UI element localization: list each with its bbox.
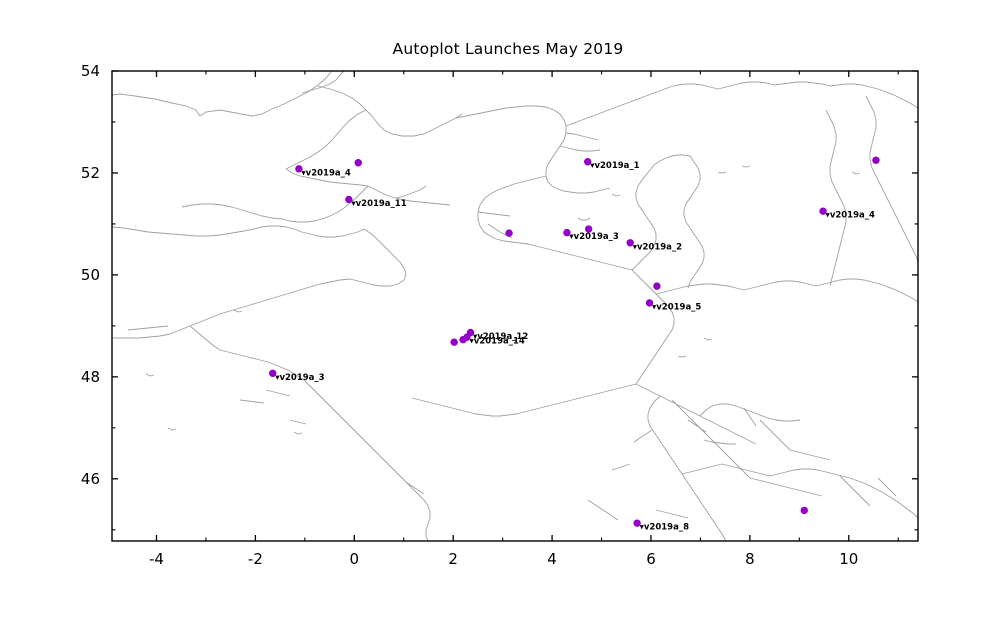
data-point[interactable]: ▾v2019a_1 — [584, 158, 640, 171]
data-point[interactable] — [505, 229, 512, 236]
data-point-label: ▾v2019a_1 — [590, 161, 639, 171]
x-tick-label: 6 — [646, 550, 656, 568]
data-point-marker[interactable] — [872, 157, 879, 164]
axis-frame — [112, 71, 918, 541]
data-point[interactable]: ▾v2019a_4 — [295, 165, 351, 178]
x-tick-label: 4 — [547, 550, 557, 568]
data-point[interactable] — [355, 159, 362, 166]
data-point-label: ▾v2019a_2 — [633, 242, 682, 252]
y-tick-label: 54 — [81, 62, 100, 80]
x-tick-label: 2 — [448, 550, 458, 568]
data-point-marker[interactable] — [653, 282, 660, 289]
data-point[interactable] — [801, 507, 808, 514]
data-point-marker[interactable] — [505, 229, 512, 236]
data-point[interactable] — [450, 338, 457, 345]
axis-tick-labels: -4-202468104648505254 — [81, 62, 858, 568]
data-point[interactable] — [653, 282, 660, 289]
data-point-label: ▾v2019a_5 — [652, 302, 701, 312]
coastline-layer — [112, 71, 918, 541]
data-point[interactable]: ▾v2019a_4 — [819, 207, 875, 220]
data-point-marker[interactable] — [355, 159, 362, 166]
x-tick-label: 0 — [350, 550, 360, 568]
data-point[interactable] — [872, 157, 879, 164]
data-point[interactable]: ▾v2019a_5 — [646, 299, 702, 312]
data-point-marker[interactable] — [459, 336, 466, 343]
y-tick-label: 52 — [81, 164, 100, 182]
data-point-marker[interactable] — [450, 338, 457, 345]
data-point[interactable] — [585, 225, 592, 232]
x-tick-label: -4 — [149, 550, 164, 568]
data-point-label: ▾v2019a_3 — [275, 373, 324, 383]
data-point-label: ▾v2019a_4 — [826, 211, 875, 221]
data-point[interactable] — [459, 336, 466, 343]
data-point-label: ▾v2019a_8 — [640, 523, 689, 533]
data-point-marker[interactable] — [801, 507, 808, 514]
y-tick-label: 46 — [81, 470, 100, 488]
data-point-label: ▾v2019a_4 — [301, 168, 350, 178]
data-point[interactable]: ▾v2019a_2 — [627, 239, 683, 252]
data-point[interactable]: ▾v2019a_8 — [633, 519, 689, 532]
axis-ticks-layer — [112, 71, 918, 541]
figure-canvas: Autoplot Launches May 2019 — [0, 0, 1003, 633]
scatter-plot: -4-202468104648505254 ▾v2019a_4▾v2019a_1… — [0, 0, 1003, 633]
y-tick-label: 50 — [81, 266, 100, 284]
data-point-marker[interactable] — [585, 225, 592, 232]
y-tick-label: 48 — [81, 368, 100, 386]
data-point-label: ▾v2019a_11 — [351, 199, 406, 209]
data-point[interactable]: ▾v2019a_3 — [269, 370, 325, 383]
x-tick-label: -2 — [248, 550, 263, 568]
x-tick-label: 8 — [745, 550, 755, 568]
x-tick-label: 10 — [839, 550, 858, 568]
data-point-label: ▾v2019a_3 — [569, 232, 618, 242]
data-point-label: ▾v2019a_14 — [470, 337, 525, 347]
data-points-layer: ▾v2019a_4▾v2019a_11▾v2019a_1▾v2019a_4▾v2… — [269, 157, 880, 533]
